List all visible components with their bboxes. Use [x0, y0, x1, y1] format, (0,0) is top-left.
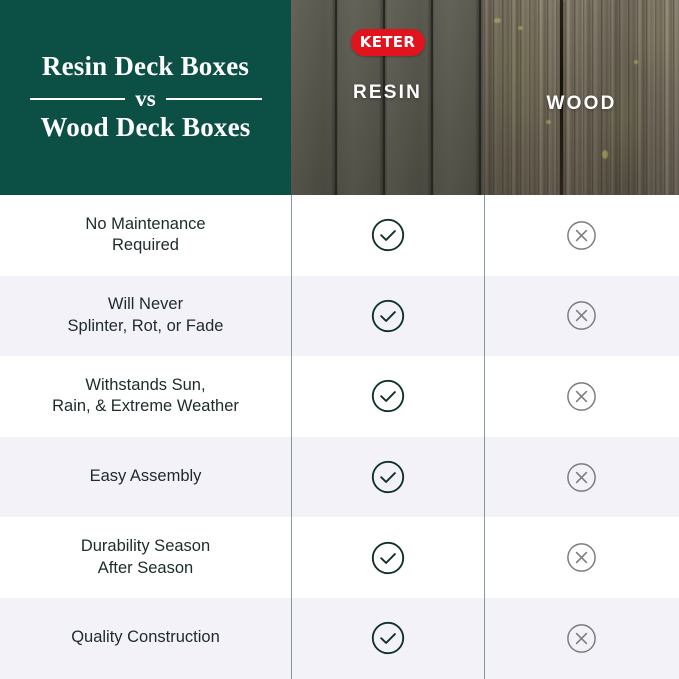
vs-rule-left — [30, 98, 126, 100]
column-divider-wood — [484, 195, 485, 679]
table-row: Easy Assembly — [0, 437, 679, 518]
table-row: Quality Construction — [0, 598, 679, 679]
table-row: Durability Season After Season — [0, 517, 679, 598]
resin-check-circle-icon — [291, 276, 484, 357]
feature-label: Easy Assembly — [0, 437, 291, 518]
resin-check-circle-icon — [291, 598, 484, 679]
feature-label: Quality Construction — [0, 598, 291, 679]
resin-check-circle-icon — [291, 356, 484, 437]
table-row: Withstands Sun, Rain, & Extreme Weather — [0, 356, 679, 437]
comparison-infographic: Resin Deck Boxes vs Wood Deck Boxes KETE… — [0, 0, 679, 679]
title-line-2: Wood Deck Boxes — [40, 112, 250, 144]
comparison-table: No Maintenance RequiredWill Never Splint… — [0, 195, 679, 679]
wood-cross-circle-icon — [484, 195, 679, 276]
resin-check-circle-icon — [291, 195, 484, 276]
feature-label: No Maintenance Required — [0, 195, 291, 276]
table-row: Will Never Splinter, Rot, or Fade — [0, 276, 679, 357]
title-panel: Resin Deck Boxes vs Wood Deck Boxes — [0, 0, 291, 195]
keter-logo-text: KETER — [360, 35, 415, 50]
wood-cross-circle-icon — [484, 598, 679, 679]
resin-column-caption: RESIN — [353, 83, 422, 102]
resin-check-circle-icon — [291, 517, 484, 598]
vs-label: vs — [135, 87, 155, 110]
feature-label: Will Never Splinter, Rot, or Fade — [0, 276, 291, 357]
wood-cross-circle-icon — [484, 356, 679, 437]
wood-cross-circle-icon — [484, 276, 679, 357]
wood-column-caption: WOOD — [546, 94, 616, 113]
feature-label: Withstands Sun, Rain, & Extreme Weather — [0, 356, 291, 437]
wood-cross-circle-icon — [484, 517, 679, 598]
wood-column-header: WOOD — [484, 0, 679, 195]
vs-rule-right — [166, 98, 262, 100]
title-line-1: Resin Deck Boxes — [42, 51, 249, 83]
resin-check-circle-icon — [291, 437, 484, 518]
feature-label: Durability Season After Season — [0, 517, 291, 598]
resin-column-header: KETER RESIN — [291, 0, 484, 195]
column-divider-resin — [291, 195, 292, 679]
title-vs-row: vs — [30, 87, 262, 110]
wood-cross-circle-icon — [484, 437, 679, 518]
table-row: No Maintenance Required — [0, 195, 679, 276]
infographic-header: Resin Deck Boxes vs Wood Deck Boxes KETE… — [0, 0, 679, 195]
keter-logo: KETER — [351, 29, 425, 56]
